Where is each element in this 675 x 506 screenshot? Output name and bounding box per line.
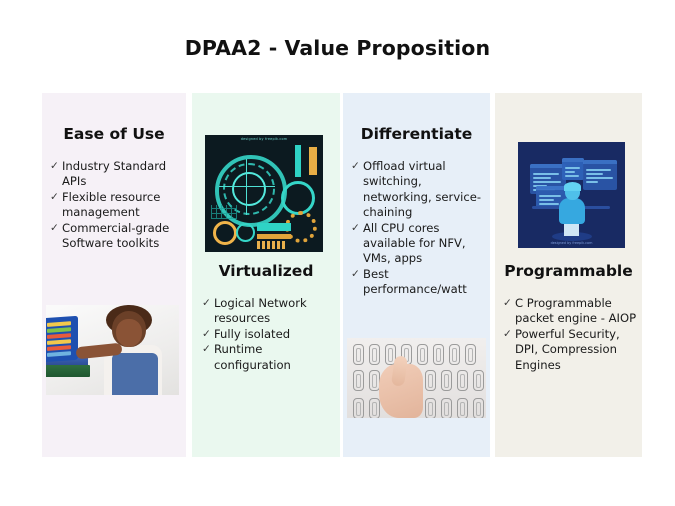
hud-crosshair-vertical [246,159,247,215]
hud-small-ring-orange [213,221,237,245]
paperclip [433,344,444,365]
paperclip [449,344,460,365]
list-item: ✓ Commercial-grade Software toolkits [50,221,180,252]
window-titlebar [530,164,566,168]
hud-data-strip [257,241,287,249]
paperclip [369,398,380,418]
list-item-label: Flexible resource management [62,190,180,221]
panel-heading-programmable: Programmable [495,262,642,280]
list-item-label: Industry Standard APIs [62,159,180,190]
check-icon: ✓ [351,267,363,282]
list-item: ✓ Industry Standard APIs [50,159,180,190]
paperclip [465,344,476,365]
child-face [116,319,142,347]
check-icon: ✓ [503,327,515,342]
list-item-label: C Programmable packet engine - AIOP [515,296,638,327]
check-icon: ✓ [351,221,363,236]
check-icon: ✓ [202,342,214,357]
list-item-label: Offload virtual switching, networking, s… [363,159,484,221]
paperclip [425,398,436,418]
check-icon: ✓ [202,296,214,311]
paperclip [425,370,436,391]
list-item: ✓ Logical Network resources [202,296,334,327]
paperclip [457,370,468,391]
list-item: ✓ Runtime configuration [202,342,334,373]
code-window [583,160,617,190]
bullet-list-differentiate: ✓ Offload virtual switching, networking,… [351,159,484,298]
child-abacus-photo [46,305,179,395]
hud-ring [281,181,315,215]
check-icon: ✓ [50,221,62,236]
panel-heading-ease-of-use: Ease of Use [42,125,186,143]
paperclip [457,398,468,418]
paperclip [417,344,428,365]
check-icon: ✓ [202,327,214,342]
hud-crosshair-horizontal [219,186,275,187]
panel-heading-virtualized: Virtualized [192,262,340,280]
list-item-label: Logical Network resources [214,296,334,327]
window-titlebar [562,158,584,162]
list-item: ✓ All CPU cores available for NFV, VMs, … [351,221,484,267]
paperclips-selection-photo [347,338,486,418]
list-item-label: Fully isolated [214,327,334,342]
hud-inner-dial [232,172,266,206]
bullet-list-virtualized: ✓ Logical Network resources ✓ Fully isol… [202,296,334,373]
hud-slider-cyan [295,145,301,177]
paperclip [353,370,364,391]
slide-canvas: DPAA2 - Value Proposition Ease of Use ✓ … [0,0,675,506]
developer-legs [564,222,579,236]
hud-slider-orange [309,147,317,175]
child-overalls [112,353,158,395]
page-title: DPAA2 - Value Proposition [0,36,675,60]
code-window [562,158,584,180]
check-icon: ✓ [50,190,62,205]
developer-body [559,198,585,224]
book-stack-lower [46,365,90,377]
bullet-list-programmable: ✓ C Programmable packet engine - AIOP ✓ … [503,296,638,373]
hud-bar-orange [257,234,291,239]
image-credit-caption: designed by freepik.com [518,241,625,245]
list-item: ✓ Best performance/watt [351,267,484,298]
panel-ease-of-use: Ease of Use ✓ Industry Standard APIs ✓ F… [42,93,186,457]
hud-small-ring-cyan [236,223,255,242]
paperclip [353,398,364,418]
list-item: ✓ C Programmable packet engine - AIOP [503,296,638,327]
hud-grid-panel [211,205,237,219]
paperclip [473,370,484,391]
list-item: ✓ Offload virtual switching, networking,… [351,159,484,221]
developer-hair [564,182,581,191]
list-item: ✓ Flexible resource management [50,190,180,221]
list-item: ✓ Fully isolated [202,327,334,342]
paperclip [441,398,452,418]
bullet-list-ease-of-use: ✓ Industry Standard APIs ✓ Flexible reso… [50,159,180,251]
paperclip [441,370,452,391]
paperclip [369,344,380,365]
paperclip [353,344,364,365]
list-item-label: Powerful Security, DPI, Compression Engi… [515,327,638,373]
abacus-toy [46,316,78,363]
list-item-label: All CPU cores available for NFV, VMs, ap… [363,221,484,267]
panel-heading-differentiate: Differentiate [343,125,490,143]
list-item-label: Best performance/watt [363,267,484,298]
hud-bar-cyan [257,223,291,231]
list-item-label: Runtime configuration [214,342,334,373]
list-item: ✓ Powerful Security, DPI, Compression En… [503,327,638,373]
check-icon: ✓ [503,296,515,311]
paperclip [473,398,484,418]
tech-hud-dashboard-graphic: designed by freepik.com [205,135,323,252]
image-credit-caption: designed by freepik.com [205,137,323,141]
window-titlebar [583,160,617,164]
developer-code-windows-graphic: designed by freepik.com [518,142,625,248]
check-icon: ✓ [50,159,62,174]
check-icon: ✓ [351,159,363,174]
list-item-label: Commercial-grade Software toolkits [62,221,180,252]
